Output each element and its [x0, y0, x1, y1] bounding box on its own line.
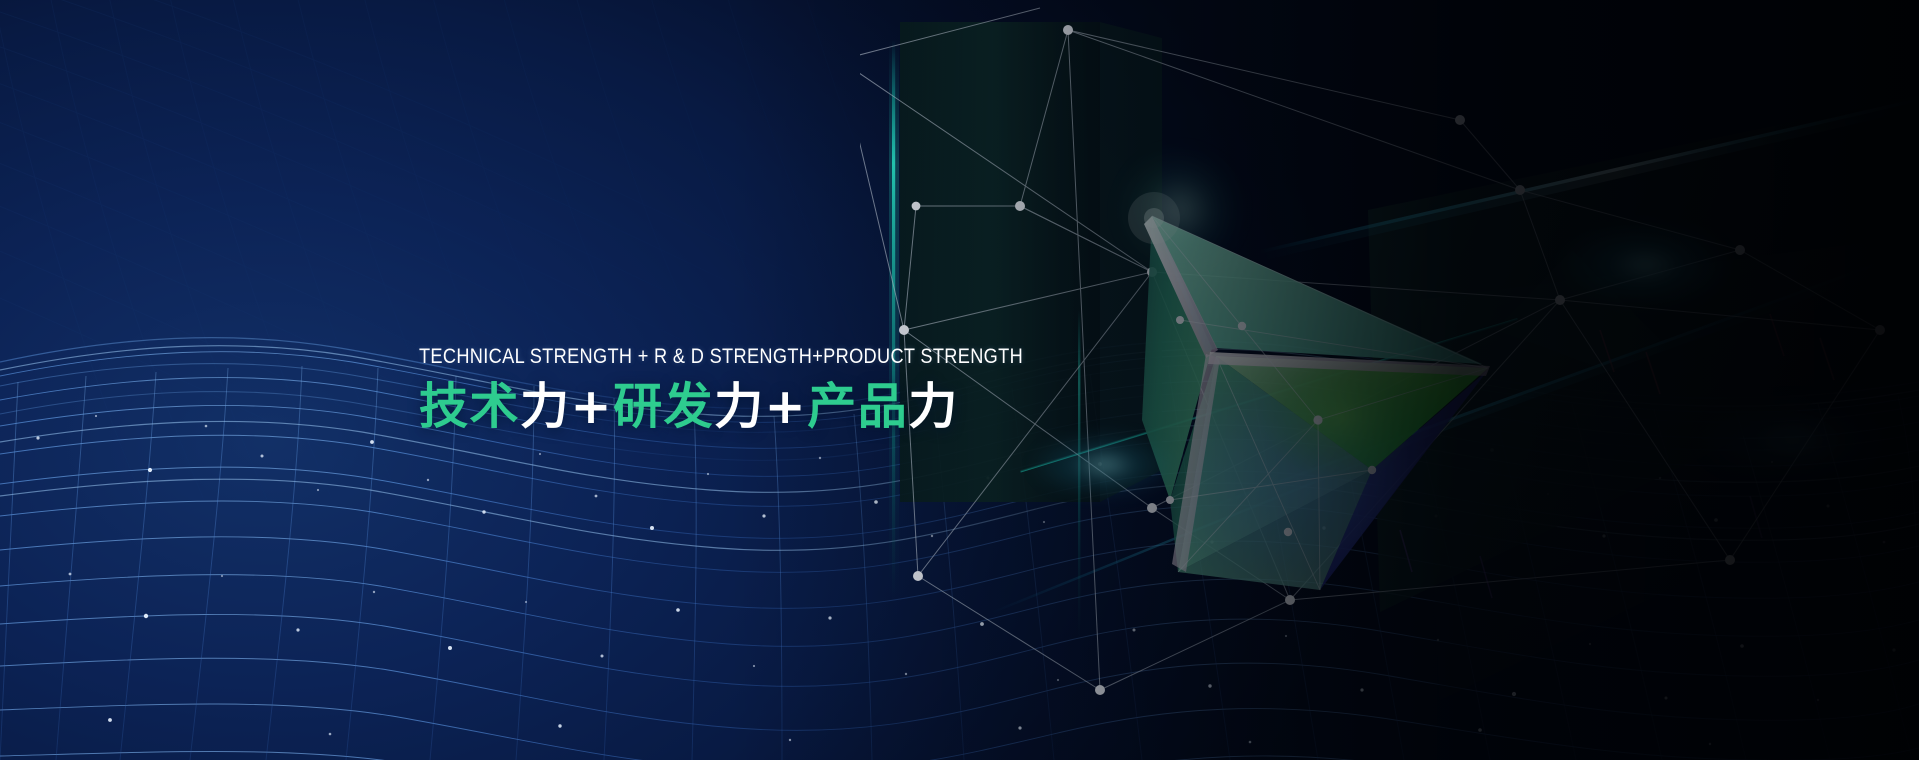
headline-seg-2: +: [571, 378, 614, 435]
headline-seg-7: 力: [908, 378, 959, 435]
lens-flare-bottom: [1030, 430, 1180, 500]
headline-seg-3: 研发: [613, 378, 714, 435]
lens-flare-far-right: [1700, 400, 1890, 480]
headline-seg-4: 力: [714, 378, 765, 435]
lens-flare-right: [1556, 220, 1736, 310]
headline-seg-1: 力: [520, 378, 571, 435]
lens-flare-arrow-tip: [1120, 150, 1240, 270]
headline-seg-5: +: [765, 378, 808, 435]
page-title: 技术力+研发力+产品力: [419, 381, 1134, 433]
hero-banner: TECHNICAL STRENGTH + R & D STRENGTH+PROD…: [0, 0, 1919, 760]
eyebrow-tagline: TECHNICAL STRENGTH + R & D STRENGTH+PROD…: [419, 346, 1023, 368]
headline-seg-6: 产品: [807, 378, 908, 435]
hero-text-block: TECHNICAL STRENGTH + R & D STRENGTH+PROD…: [419, 346, 1134, 432]
headline-seg-0: 技术: [419, 378, 520, 435]
